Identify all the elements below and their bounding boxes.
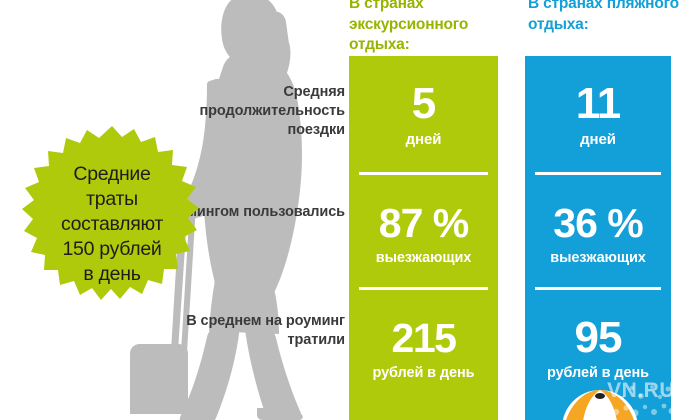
column-header-excursion: В странах экскурсионного отдыха: <box>349 0 499 56</box>
data-column-beach: 11 дней 36 % выезжающих 95 рублей в день <box>525 56 671 420</box>
value-excursion-duration: 5 <box>349 56 498 128</box>
badge-line-3: составляют <box>61 212 163 237</box>
value-excursion-roaming-spend: 215 <box>349 290 498 362</box>
cell-beach-duration: 11 дней <box>525 56 671 175</box>
cell-excursion-roaming-used: 87 % выезжающих <box>349 175 498 290</box>
badge-line-1: Средние <box>73 162 150 187</box>
unit-excursion-roaming-spend: рублей в день <box>349 362 498 383</box>
unit-beach-duration: дней <box>525 128 671 149</box>
value-excursion-roaming-used: 87 % <box>349 175 498 247</box>
value-beach-roaming-spend: 95 <box>525 290 671 362</box>
average-spend-starburst-badge: Средние траты составляют 150 рублей в де… <box>12 126 212 322</box>
data-column-excursion: 5 дней 87 % выезжающих 215 рублей в день <box>349 56 498 420</box>
vn-ru-watermark: VN.RU <box>607 379 675 403</box>
value-beach-roaming-used: 36 % <box>525 175 671 247</box>
badge-line-4: 150 рублей <box>63 237 162 262</box>
cell-excursion-roaming-spend: 215 рублей в день <box>349 290 498 420</box>
badge-text-block: Средние траты составляют 150 рублей в де… <box>12 126 212 322</box>
value-beach-duration: 11 <box>525 56 671 128</box>
cell-beach-roaming-used: 36 % выезжающих <box>525 175 671 290</box>
badge-line-2: траты <box>86 187 138 212</box>
unit-excursion-roaming-used: выезжающих <box>349 247 498 268</box>
unit-excursion-duration: дней <box>349 128 498 149</box>
unit-beach-roaming-used: выезжающих <box>525 247 671 268</box>
infographic-canvas: Средняя продолжительность поездки Роумин… <box>0 0 680 420</box>
cell-excursion-duration: 5 дней <box>349 56 498 175</box>
column-header-beach: В странах пляжного отдыха: <box>528 0 680 35</box>
badge-line-5: в день <box>83 262 140 287</box>
